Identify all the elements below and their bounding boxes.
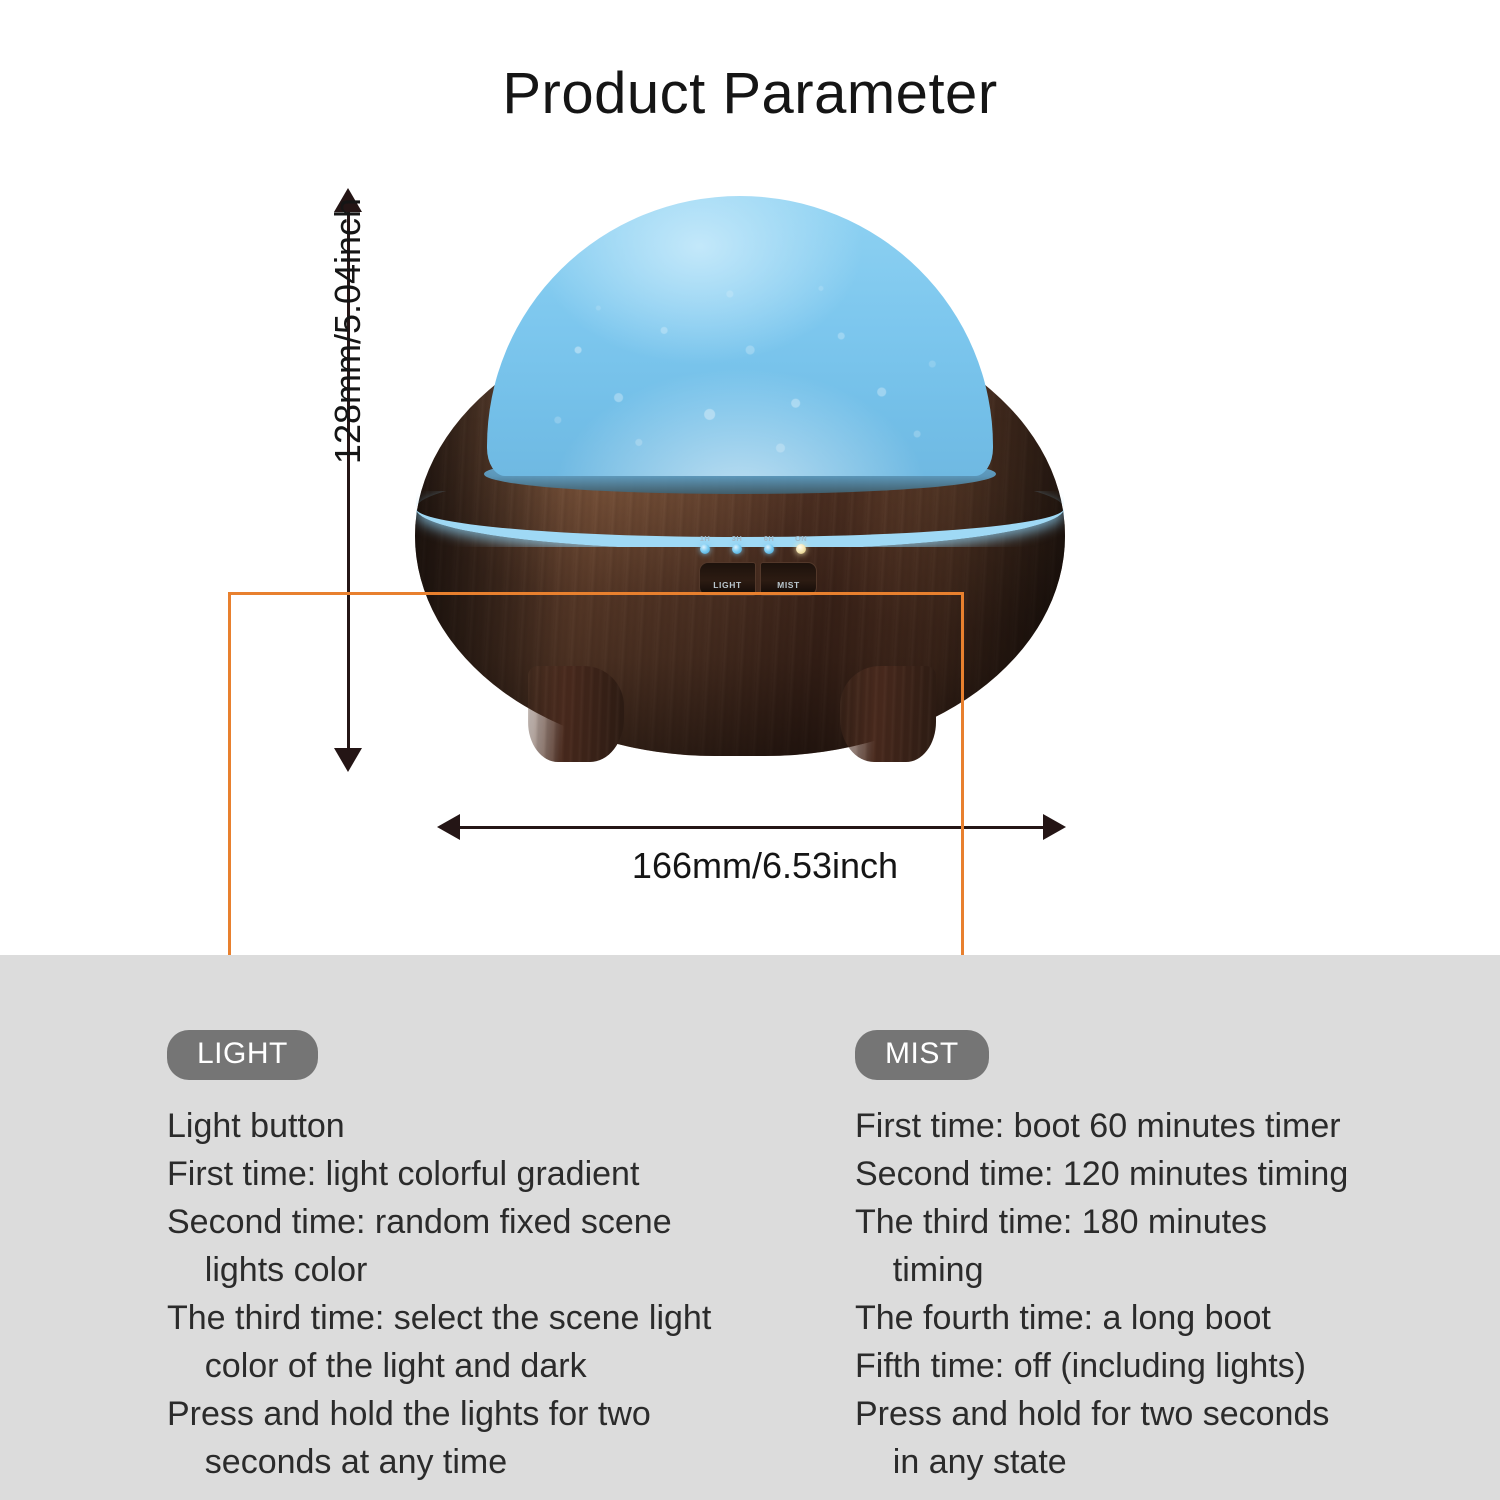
timer-led-row: 1H 3H 6H ON [693, 534, 821, 564]
led-label-1h: 1H [693, 534, 717, 543]
leg-grain-texture [528, 666, 624, 762]
badge-mist: MIST [855, 1030, 989, 1080]
width-arrow-right-icon [1043, 814, 1066, 840]
height-arrow-down-icon [334, 748, 362, 772]
led-indicator-6h: 6H [757, 534, 781, 554]
light-desc-line: seconds at any time [167, 1438, 787, 1486]
callout-block-light: LIGHT Light button First time: light col… [167, 1030, 787, 1486]
hero-section: Product Parameter 1H 3H [0, 0, 1500, 955]
product-mist-button-label: MIST [761, 580, 816, 590]
width-arrow-left-icon [437, 814, 460, 840]
led-dot-6h [764, 544, 774, 554]
led-label-6h: 6H [757, 534, 781, 543]
product-leg-right [840, 666, 936, 762]
mist-description-list: First time: boot 60 minutes timer Second… [855, 1102, 1455, 1486]
light-desc-line: Light button [167, 1102, 787, 1150]
leg-grain-texture [840, 666, 936, 762]
product-light-button-label: LIGHT [700, 580, 755, 590]
mist-desc-line: First time: boot 60 minutes timer [855, 1102, 1455, 1150]
mist-desc-line: Press and hold for two seconds [855, 1390, 1455, 1438]
mist-desc-line: timing [855, 1246, 1455, 1294]
mist-desc-line: in any state [855, 1438, 1455, 1486]
callout-block-mist: MIST First time: boot 60 minutes timer S… [855, 1030, 1455, 1486]
product-control-panel: 1H 3H 6H ON LIGHT [693, 534, 821, 596]
led-indicator-on: ON [789, 534, 813, 554]
light-desc-line: First time: light colorful gradient [167, 1150, 787, 1198]
mist-desc-line: Fifth time: off (including lights) [855, 1342, 1455, 1390]
product-button-row: LIGHT MIST [699, 562, 817, 596]
light-description-list: Light button First time: light colorful … [167, 1102, 787, 1486]
light-desc-line: lights color [167, 1246, 787, 1294]
dome-speckle-texture [487, 196, 993, 476]
led-dot-3h [732, 544, 742, 554]
product-leg-left [528, 666, 624, 762]
mist-desc-line: The fourth time: a long boot [855, 1294, 1455, 1342]
callout-leader-horizontal [228, 592, 964, 595]
led-indicator-1h: 1H [693, 534, 717, 554]
product-mist-button[interactable]: MIST [760, 562, 817, 596]
light-desc-line: Press and hold the lights for two [167, 1390, 787, 1438]
light-desc-line: Second time: random fixed scene [167, 1198, 787, 1246]
led-label-on: ON [789, 534, 813, 543]
led-label-3h: 3H [725, 534, 749, 543]
light-desc-line: The third time: select the scene light [167, 1294, 787, 1342]
mist-desc-line: Second time: 120 minutes timing [855, 1150, 1455, 1198]
mist-desc-line: The third time: 180 minutes [855, 1198, 1455, 1246]
product-light-button[interactable]: LIGHT [699, 562, 756, 596]
width-dimension-line [455, 826, 1055, 829]
light-desc-line: color of the light and dark [167, 1342, 787, 1390]
width-dimension-label: 166mm/6.53inch [605, 845, 925, 887]
badge-light: LIGHT [167, 1030, 318, 1080]
led-indicator-3h: 3H [725, 534, 749, 554]
height-dimension-label: 128mm/5.04inch [327, 151, 369, 511]
led-dot-on [796, 544, 806, 554]
product-light-dome [487, 196, 993, 476]
led-dot-1h [700, 544, 710, 554]
product-illustration: 1H 3H 6H ON LIGHT [410, 196, 1070, 776]
page-title: Product Parameter [0, 60, 1500, 127]
